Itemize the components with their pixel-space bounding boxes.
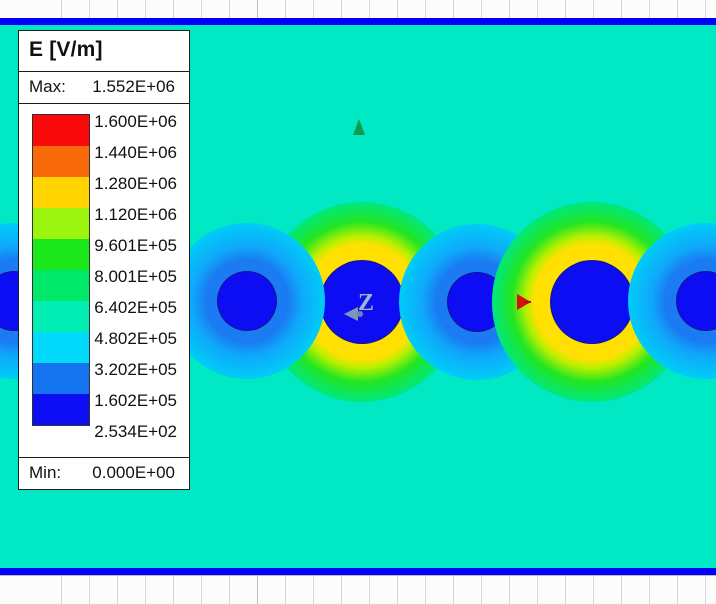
ruler-tick [565, 0, 566, 18]
ruler-tick [117, 0, 118, 18]
ruler-bottom [0, 575, 716, 604]
legend-swatch-4 [33, 239, 89, 270]
ruler-tick [341, 576, 342, 604]
ruler-tick [425, 0, 426, 18]
legend-swatch-3 [33, 208, 89, 239]
port-direction-arrow-icon [517, 294, 531, 310]
legend-min-label: Min: [29, 463, 87, 483]
boundary-rail-bottom [0, 568, 716, 575]
ruler-tick [397, 0, 398, 18]
ruler-tick [285, 576, 286, 604]
ruler-tick [537, 0, 538, 18]
legend-swatch-5 [33, 270, 89, 301]
color-legend-panel[interactable]: E [V/m] Max: 1.552E+06 1.600E+061.440E+0… [18, 30, 190, 490]
conductor-3[interactable] [551, 261, 633, 343]
ruler-tick [61, 0, 62, 18]
legend-color-scale: 1.600E+061.440E+061.280E+061.120E+069.60… [19, 104, 189, 457]
ruler-tick [229, 0, 230, 18]
probe-marker-icon [353, 119, 365, 135]
ruler-tick [481, 0, 482, 18]
ruler-tick [705, 0, 706, 18]
ruler-tick [649, 576, 650, 604]
ruler-top [0, 0, 716, 19]
port-arrow-stub [524, 301, 531, 303]
ruler-tick [649, 0, 650, 18]
z-axis-indicator: Z [330, 287, 420, 377]
ruler-tick [285, 0, 286, 18]
ruler-tick [145, 576, 146, 604]
ruler-tick [313, 0, 314, 18]
boundary-rail-top [0, 18, 716, 25]
ruler-tick [369, 0, 370, 18]
ruler-tick [117, 576, 118, 604]
ruler-tick [173, 576, 174, 604]
z-axis-origin-dot [357, 311, 363, 317]
legend-max-value: 1.552E+06 [87, 77, 179, 97]
legend-title: E [V/m] [19, 31, 189, 72]
ruler-tick [537, 576, 538, 604]
ruler-tick [565, 576, 566, 604]
ruler-tick [397, 576, 398, 604]
ruler-tick [705, 576, 706, 604]
legend-swatch-8 [33, 363, 89, 394]
ruler-tick [61, 576, 62, 604]
ruler-tick [593, 0, 594, 18]
ruler-tick [593, 576, 594, 604]
ruler-tick [89, 576, 90, 604]
legend-swatch-0 [33, 115, 89, 146]
legend-swatch-1 [33, 146, 89, 177]
ruler-tick [369, 576, 370, 604]
ruler-tick [341, 0, 342, 18]
legend-swatch-strip [32, 114, 90, 426]
ruler-tick [677, 0, 678, 18]
ruler-tick [257, 576, 258, 604]
legend-min-value: 0.000E+00 [87, 463, 179, 483]
legend-swatch-9 [33, 394, 89, 425]
ruler-tick [313, 576, 314, 604]
legend-swatch-7 [33, 332, 89, 363]
legend-max-label: Max: [29, 77, 87, 97]
ruler-tick [201, 0, 202, 18]
ruler-tick [677, 576, 678, 604]
ruler-tick [509, 0, 510, 18]
ruler-tick [509, 576, 510, 604]
ruler-tick [621, 0, 622, 18]
ruler-tick [425, 576, 426, 604]
ruler-tick [145, 0, 146, 18]
legend-swatch-2 [33, 177, 89, 208]
ruler-tick [89, 0, 90, 18]
ruler-tick [173, 0, 174, 18]
ruler-tick [621, 576, 622, 604]
z-axis-arrow-icon [344, 307, 358, 321]
legend-max-row: Max: 1.552E+06 [19, 72, 189, 104]
ruler-tick [481, 576, 482, 604]
simulation-view: Z E [V/m] Max: 1.552E+06 1.600E+061.440E… [0, 0, 716, 604]
legend-swatch-6 [33, 301, 89, 332]
ruler-tick [453, 0, 454, 18]
ruler-tick [229, 576, 230, 604]
ruler-tick [257, 0, 258, 18]
ruler-tick [201, 576, 202, 604]
conductor-1[interactable] [218, 272, 276, 330]
ruler-tick [453, 576, 454, 604]
legend-min-row: Min: 0.000E+00 [19, 457, 189, 489]
